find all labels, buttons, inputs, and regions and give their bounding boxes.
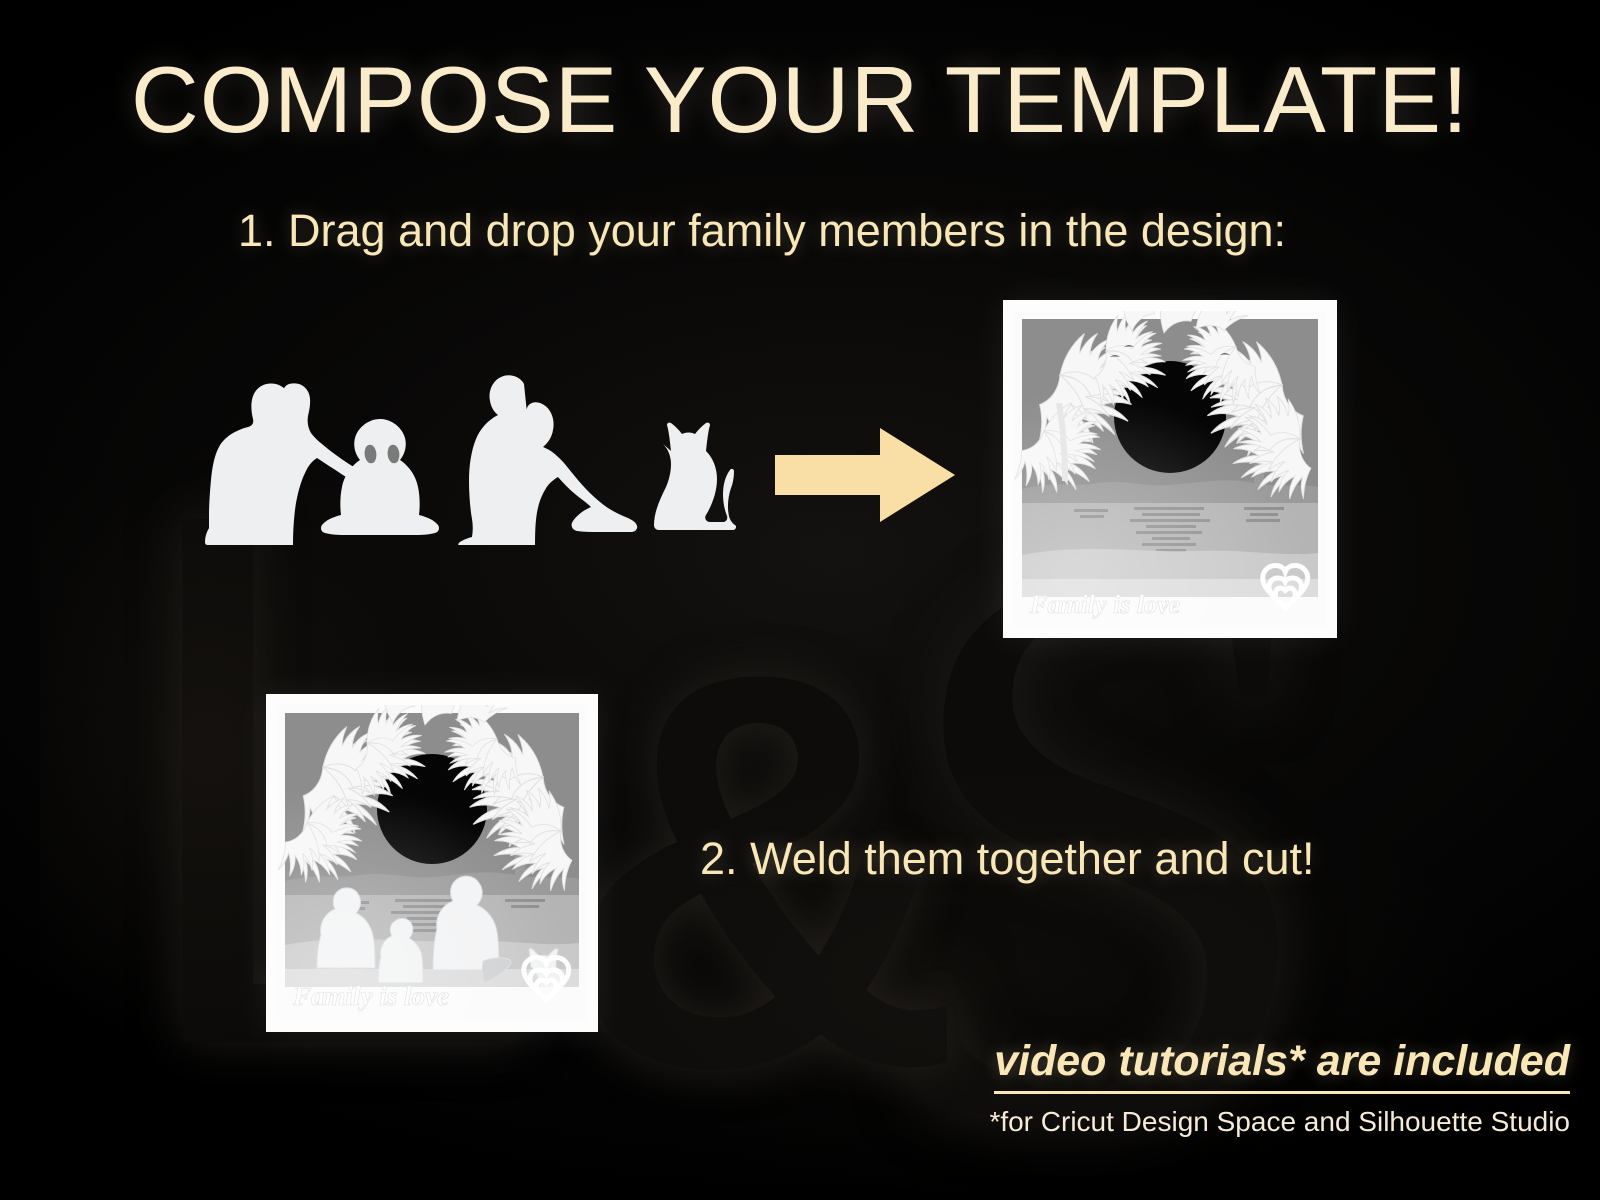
right-arrow-icon xyxy=(775,425,955,525)
child-seated-silhouette xyxy=(321,419,439,535)
papercut-template-empty[interactable]: Family is love xyxy=(1003,300,1337,638)
poster-canvas: L S & COMPOSE YOUR TEMPLATE! 1. Drag and… xyxy=(0,0,1600,1200)
video-tutorials-note: video tutorials* are included xyxy=(994,1037,1570,1094)
footer-block: video tutorials* are included *for Cricu… xyxy=(989,1037,1570,1138)
artwork-caption-bottom: Family is love xyxy=(292,981,449,1011)
family-silhouette-row xyxy=(200,355,740,545)
papercut-template-welded[interactable]: Family is love xyxy=(266,694,598,1032)
step-1-label: 1. Drag and drop your family members in … xyxy=(238,205,1286,257)
man-seated-silhouette xyxy=(458,375,637,545)
page-title: COMPOSE YOUR TEMPLATE! xyxy=(0,46,1600,154)
cat-sitting-silhouette xyxy=(654,423,736,530)
software-footnote: *for Cricut Design Space and Silhouette … xyxy=(989,1106,1570,1138)
step-2-label: 2. Weld them together and cut! xyxy=(700,833,1315,885)
artwork-caption-top: Family is love xyxy=(1029,590,1180,619)
